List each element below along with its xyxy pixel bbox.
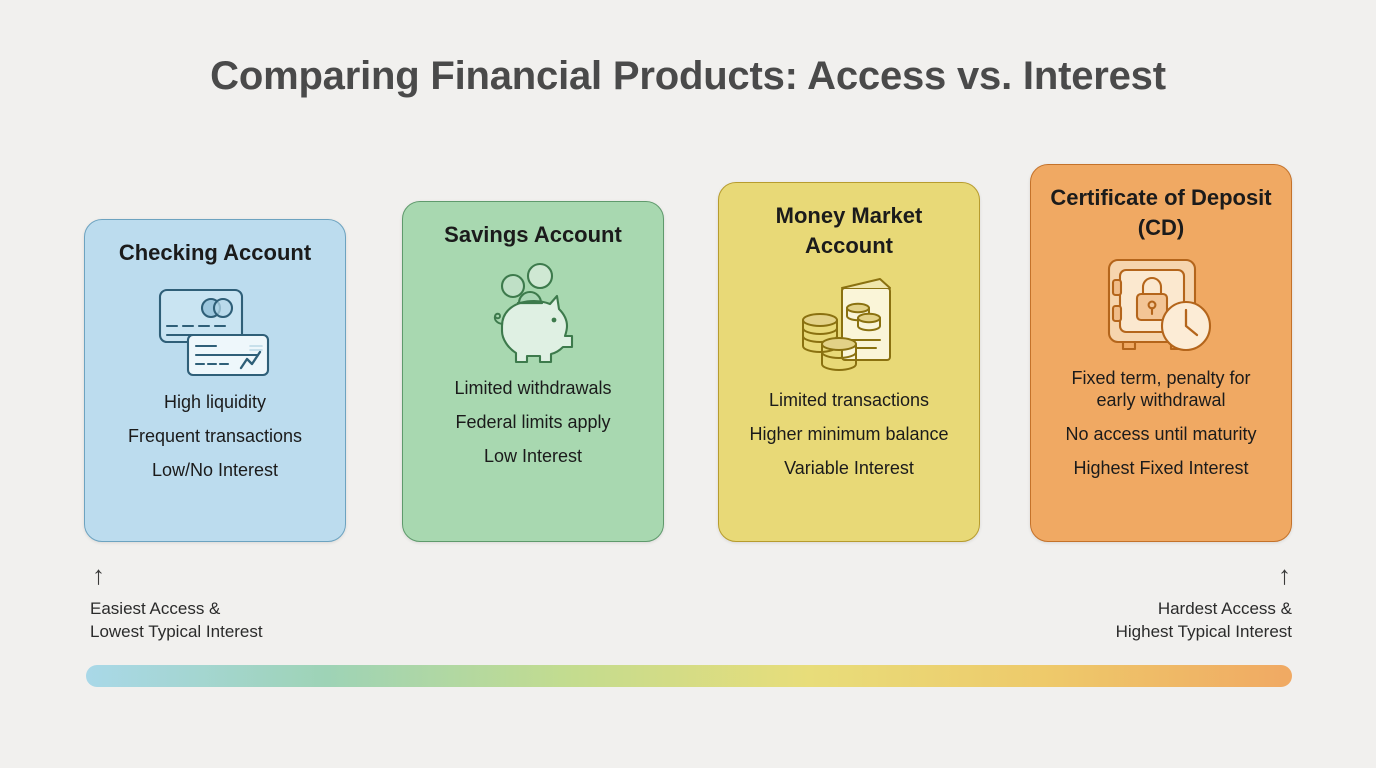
card-title: Certificate of Deposit (CD) — [1043, 183, 1279, 242]
piggy-bank-icon — [474, 262, 592, 366]
feature-item: Limited withdrawals — [454, 378, 611, 400]
card-title: Money Market Account — [731, 201, 967, 260]
product-card-money-market-account[interactable]: Money Market Account — [718, 182, 980, 542]
coins-and-checkbook-icon — [790, 272, 908, 378]
card-features: Limited transactions Higher minimum bala… — [731, 390, 967, 480]
card-title: Checking Account — [119, 238, 311, 268]
feature-item: Fixed term, penalty for early withdrawal — [1071, 368, 1250, 412]
product-card-savings-account[interactable]: Savings Account Limited withdrawals Fede… — [402, 201, 664, 542]
page-title: Comparing Financial Products: Access vs.… — [0, 54, 1376, 99]
feature-item: Higher minimum balance — [749, 424, 948, 446]
feature-item: Low Interest — [484, 446, 582, 468]
up-arrow-icon-right: ↑ — [1278, 562, 1291, 588]
card-title: Savings Account — [444, 220, 622, 250]
feature-item: Low/No Interest — [152, 460, 278, 482]
feature-item: Variable Interest — [784, 458, 914, 480]
up-arrow-icon-left: ↑ — [92, 562, 105, 588]
access-interest-spectrum-bar — [86, 665, 1292, 687]
scale-label-hardest-access: Hardest Access & Highest Typical Interes… — [1116, 598, 1292, 644]
feature-item: Limited transactions — [769, 390, 929, 412]
feature-item: Frequent transactions — [128, 426, 302, 448]
feature-item: No access until maturity — [1065, 424, 1256, 446]
product-cards-row: Checking Account High liqu — [84, 160, 1292, 542]
product-card-checking-account[interactable]: Checking Account High liqu — [84, 219, 346, 542]
scale-label-easiest-access: Easiest Access & Lowest Typical Interest — [90, 598, 263, 644]
credit-card-and-check-icon — [153, 280, 277, 380]
feature-item: Federal limits apply — [455, 412, 610, 434]
card-features: High liquidity Frequent transactions Low… — [97, 392, 333, 482]
feature-item: Highest Fixed Interest — [1073, 458, 1248, 480]
card-features: Limited withdrawals Federal limits apply… — [415, 378, 651, 468]
safe-with-lock-and-clock-icon — [1101, 254, 1221, 356]
feature-item: High liquidity — [164, 392, 266, 414]
card-features: Fixed term, penalty for early withdrawal… — [1043, 368, 1279, 480]
product-card-certificate-of-deposit[interactable]: Certificate of Deposit (CD) — [1030, 164, 1292, 542]
